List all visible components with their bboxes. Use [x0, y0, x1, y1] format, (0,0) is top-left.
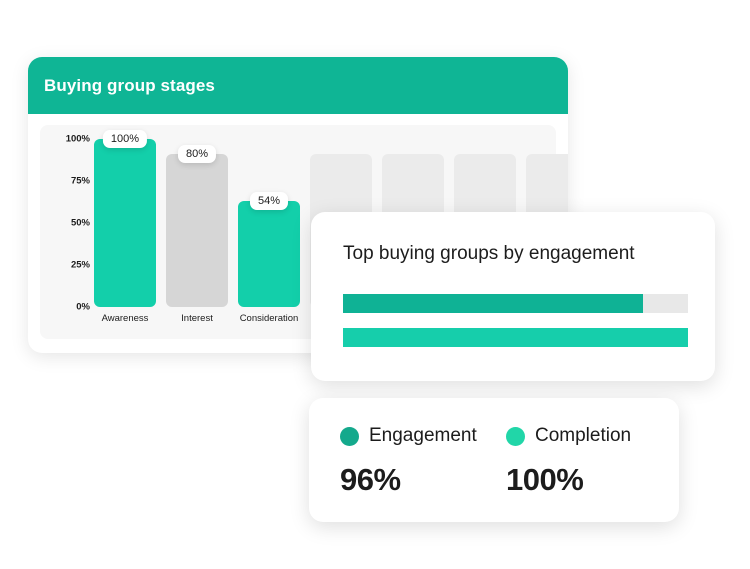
metric-completion-header: Completion: [506, 424, 631, 448]
y-axis-tick: 0%: [76, 302, 90, 313]
progress-fill-engagement: [343, 294, 643, 313]
legend-label-completion: Completion: [535, 425, 631, 447]
bar-awareness[interactable]: [94, 139, 156, 307]
bar-consideration[interactable]: [238, 201, 300, 307]
bar-slot-consideration[interactable]: 54%: [238, 139, 300, 307]
y-axis-tick: 25%: [71, 260, 90, 271]
groups-card-title: Top buying groups by engagement: [343, 243, 635, 265]
y-axis-tick: 100%: [66, 134, 90, 145]
metric-value-completion: 100%: [506, 462, 631, 498]
bar-value-label: 80%: [178, 145, 216, 163]
metric-engagement: Engagement 96%: [340, 424, 477, 498]
card-header: Buying group stages: [28, 57, 568, 114]
y-axis-tick: 50%: [71, 218, 90, 229]
bar-value-label: 100%: [103, 130, 147, 148]
bar-value-label: 54%: [250, 192, 288, 210]
legend-label-engagement: Engagement: [369, 425, 477, 447]
page-title: Buying group stages: [44, 76, 215, 96]
top-buying-groups-card: Top buying groups by engagement: [311, 212, 715, 381]
bar-interest[interactable]: [166, 154, 228, 307]
bar-slot-interest[interactable]: 80%: [166, 139, 228, 307]
x-axis-tick-consideration: Consideration: [219, 313, 319, 324]
bar-slot-awareness[interactable]: 100%: [94, 139, 156, 307]
metric-engagement-header: Engagement: [340, 424, 477, 448]
progress-track-completion[interactable]: [343, 328, 688, 347]
metric-value-engagement: 96%: [340, 462, 477, 498]
legend-dot-icon: [506, 427, 525, 446]
y-axis: 100% 75% 50% 25% 0%: [50, 139, 90, 307]
progress-fill-completion: [343, 328, 688, 347]
progress-track-engagement[interactable]: [343, 294, 688, 313]
metrics-legend-card: Engagement 96% Completion 100%: [309, 398, 679, 522]
legend-dot-icon: [340, 427, 359, 446]
metric-completion: Completion 100%: [506, 424, 631, 498]
y-axis-tick: 75%: [71, 176, 90, 187]
